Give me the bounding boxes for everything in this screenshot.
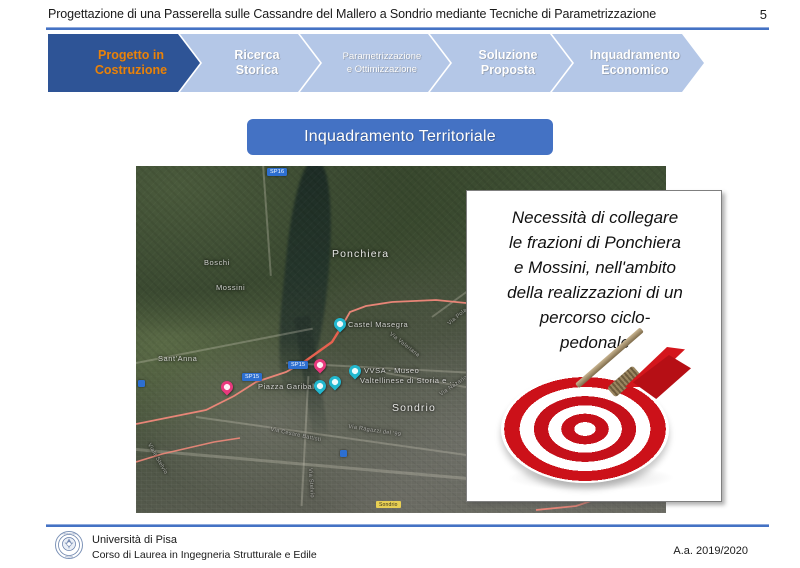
slide-header-title: Progettazione di una Passerella sulle Ca… [48,7,738,21]
chevron-step-label: Inquadramento Economico [576,48,680,78]
presentation-slide: Progettazione di una Passerella sulle Ca… [0,0,800,568]
footer-organization: Università di Pisa [92,534,177,546]
footer-academic-year: A.a. 2019/2020 [673,545,748,557]
map-marker-dot[interactable] [138,380,145,387]
chevron-step-label: Progetto in Costruzione [81,48,167,78]
callout-text: Necessità di collegare le frazioni di Po… [475,205,715,355]
section-banner-label: Inquadramento Territoriale [304,128,496,146]
svg-text:PISANA: PISANA [65,556,73,559]
map-road-shield-sp15: SP15 [242,373,262,381]
dartboard-graphic [491,353,707,499]
callout-box: Necessità di collegare le frazioni di Po… [466,190,722,502]
map-road-shield-sp16: SP16 [267,168,287,176]
chevron-step-label: Ricerca Storica [220,48,279,78]
university-seal-icon: UNIVERSITAS PISANA [54,530,84,560]
svg-text:UNIVERSITAS: UNIVERSITAS [62,533,76,536]
slide-page-number: 5 [760,7,767,22]
footer-divider [46,524,769,527]
chevron-step-label: Soluzione Proposta [464,48,537,78]
map-marker-dot[interactable] [340,450,347,457]
chevron-step-progetto-in-costruzione[interactable]: Progetto in Costruzione [48,34,200,92]
chevron-step-soluzione-proposta[interactable]: Soluzione Proposta [430,34,572,92]
map-sign-plate-sondrio: Sondrio [376,501,401,508]
process-chevron-bar: Progetto in Costruzione Ricerca Storica … [48,34,764,92]
header-divider [46,27,769,30]
footer-course: Corso di Laurea in Ingegneria Struttural… [92,549,317,561]
chevron-step-parametrizzazione-e-ottimizzazione[interactable]: Parametrizzazione e Ottimizzazione [300,34,450,92]
chevron-step-label: Parametrizzazione e Ottimizzazione [329,50,422,76]
dartboard-rings [501,375,669,483]
map-road-shield-sp15: SP15 [288,361,308,369]
chevron-step-ricerca-storica[interactable]: Ricerca Storica [180,34,320,92]
chevron-step-inquadramento-economico[interactable]: Inquadramento Economico [552,34,704,92]
section-banner: Inquadramento Territoriale [247,119,553,155]
